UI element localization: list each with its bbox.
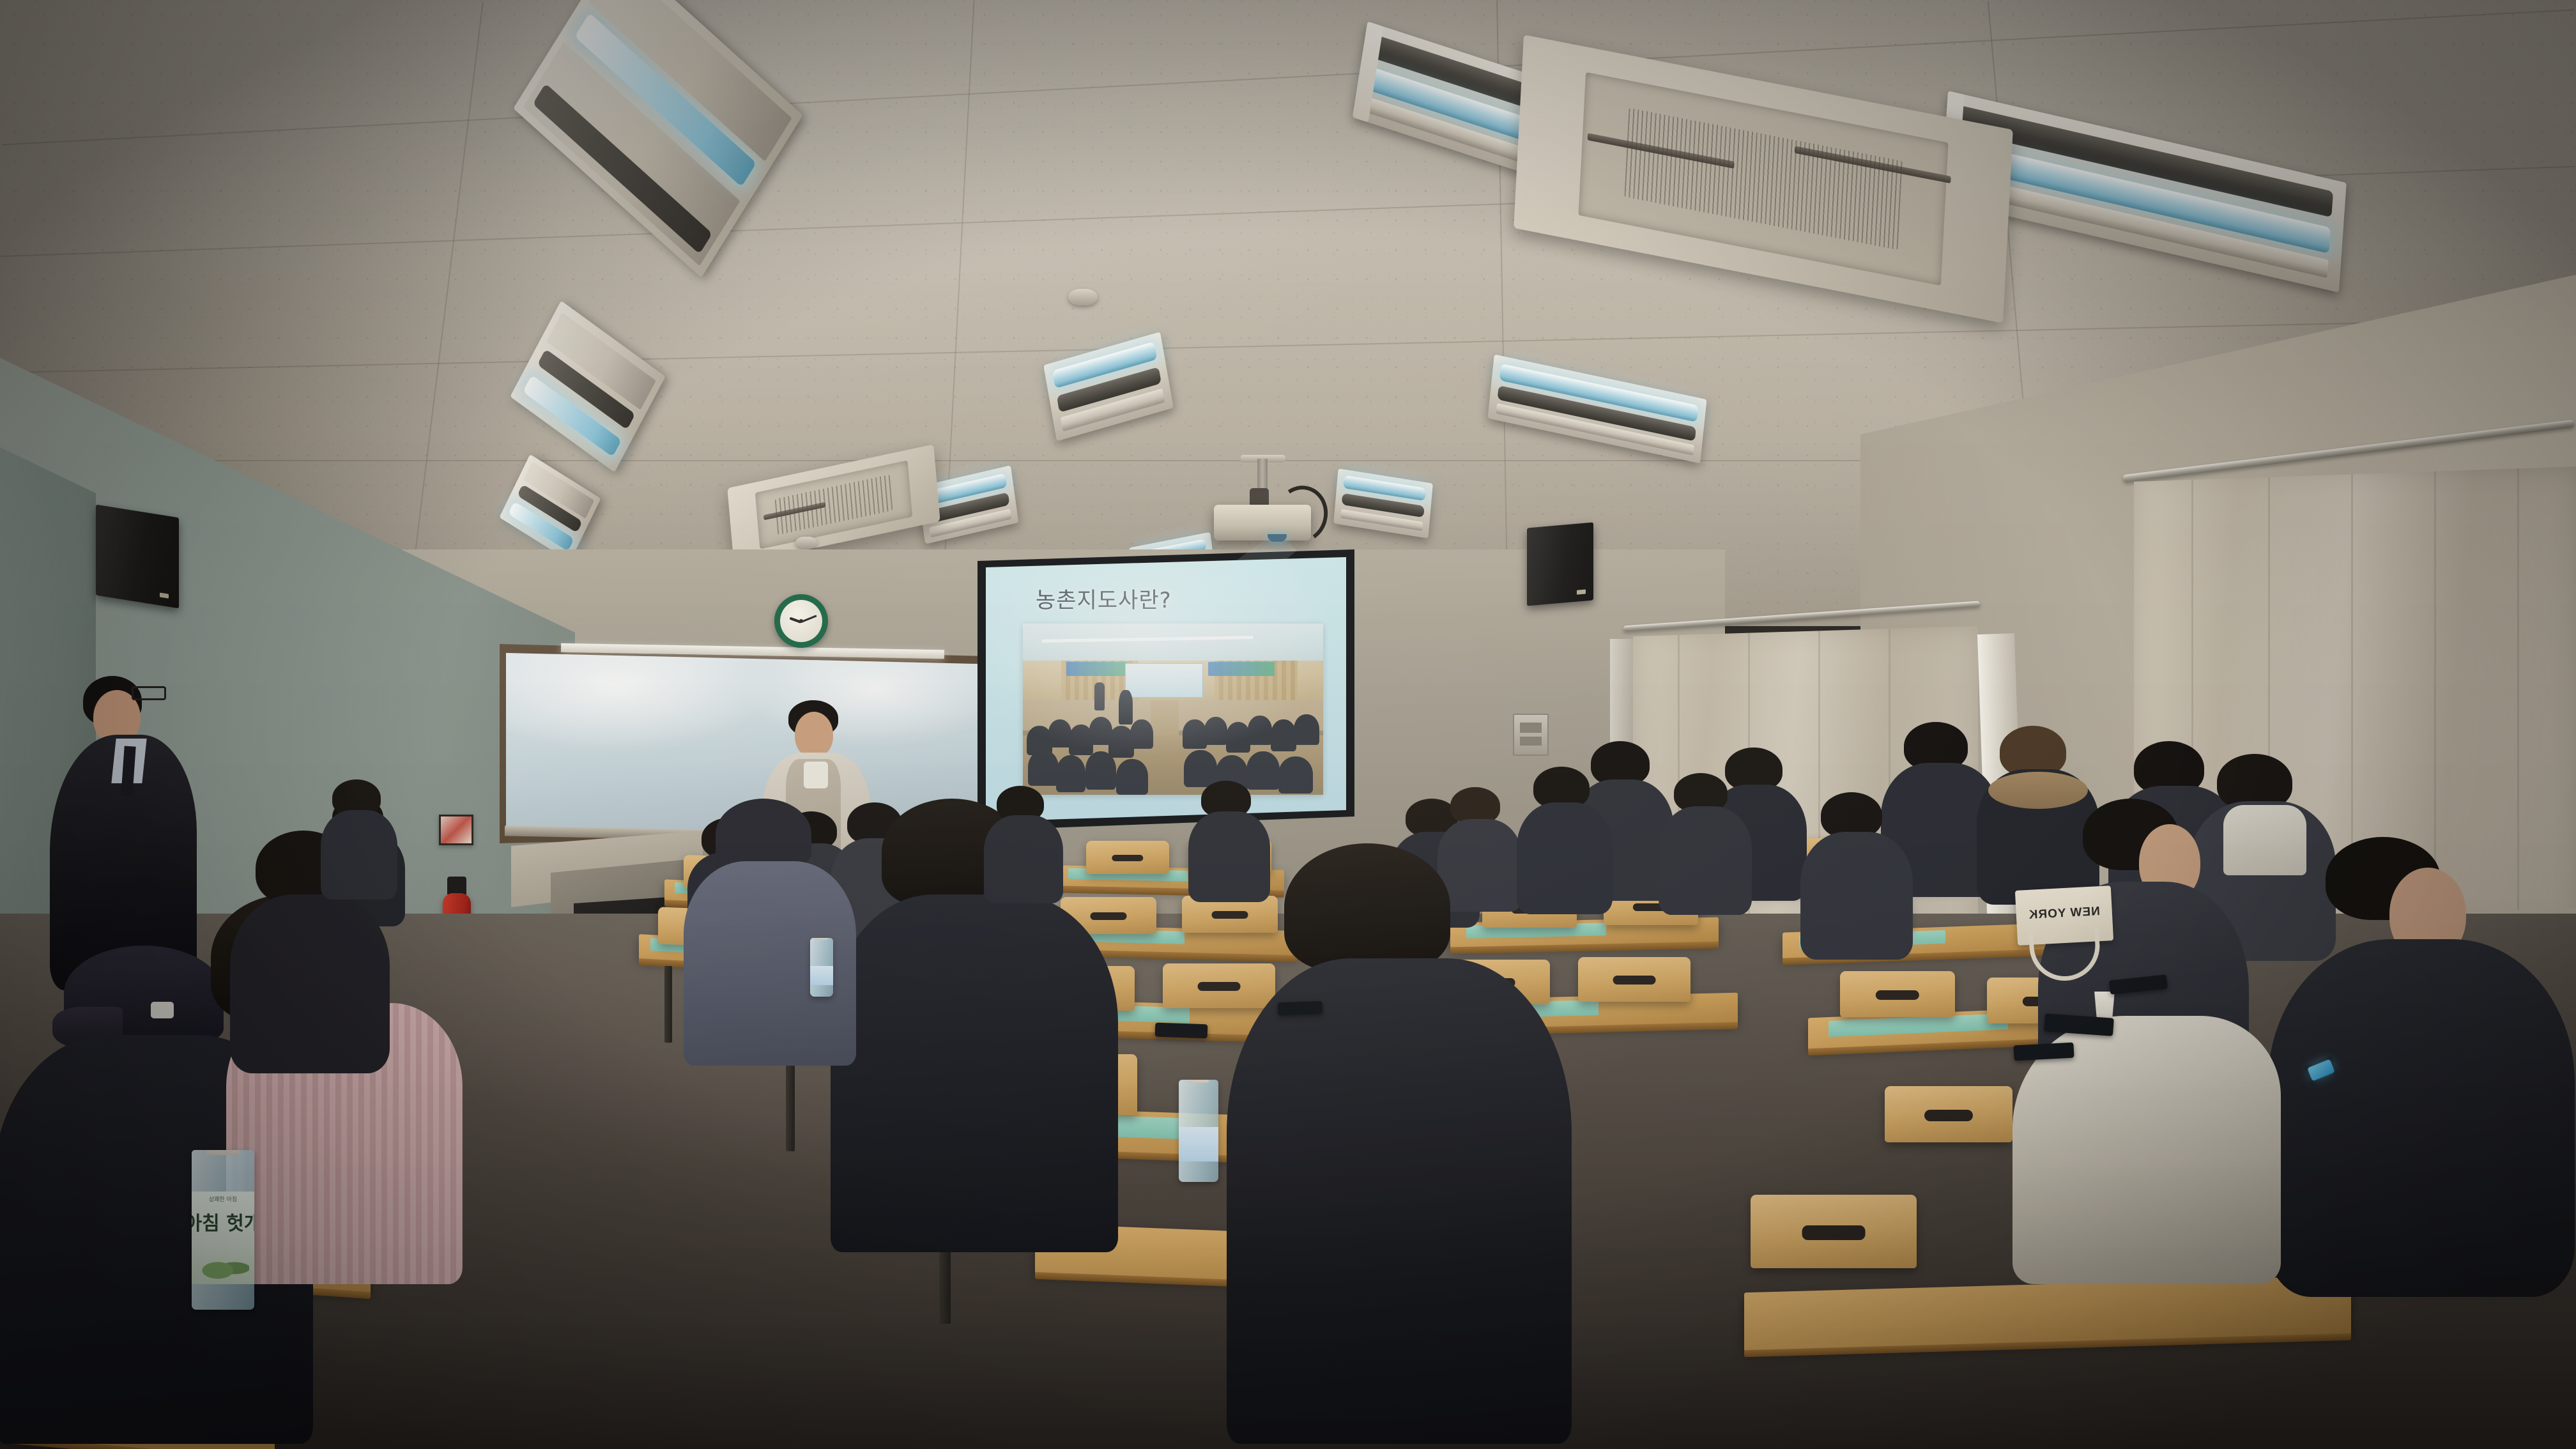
chair[interactable] bbox=[1885, 1086, 2012, 1142]
cap-buckle bbox=[151, 1002, 174, 1018]
chair[interactable] bbox=[1086, 841, 1169, 874]
tote-bag[interactable]: NEW YORK bbox=[2015, 885, 2113, 946]
slide-title: 농촌지도사란? bbox=[1036, 583, 1172, 614]
wall-control-plate[interactable] bbox=[1513, 714, 1549, 756]
wall-speaker-left bbox=[96, 505, 179, 609]
bottle-label: 상쾌한 아침 아침 헛개 bbox=[192, 1192, 254, 1284]
chair[interactable] bbox=[1751, 1195, 1917, 1268]
smoke-detector bbox=[1068, 289, 1098, 305]
wall-speaker-right bbox=[1527, 522, 1593, 606]
eyeglasses bbox=[132, 686, 166, 700]
hood bbox=[2223, 805, 2306, 875]
chair[interactable] bbox=[1840, 971, 1955, 1017]
smartphone[interactable] bbox=[2013, 1043, 2074, 1061]
paper-cup[interactable] bbox=[2093, 992, 2116, 1018]
chair[interactable] bbox=[1578, 957, 1690, 1002]
chair[interactable] bbox=[1163, 963, 1275, 1008]
water-bottle[interactable] bbox=[1179, 1080, 1218, 1182]
water-bottle[interactable] bbox=[810, 938, 833, 997]
fur-collar bbox=[1988, 772, 2088, 809]
bottle-cap bbox=[207, 1150, 240, 1155]
smoke-detector bbox=[795, 537, 817, 548]
smartphone[interactable] bbox=[1155, 1023, 1208, 1039]
fire-extinguisher-nozzle bbox=[447, 877, 466, 894]
projection-screen: 농촌지도사란? bbox=[986, 557, 1346, 822]
bottle-subtext: 상쾌한 아침 bbox=[209, 1197, 237, 1203]
tote-bag-text: NEW YORK bbox=[2028, 905, 2100, 923]
framed-picture bbox=[439, 815, 473, 845]
classroom-scene: 농촌지도사란? bbox=[0, 0, 2576, 1449]
bottle-brand: 아침 헛개 bbox=[192, 1214, 254, 1234]
slide-photo bbox=[1023, 624, 1323, 795]
beverage-bottle[interactable]: 상쾌한 아침 아침 헛개 bbox=[192, 1150, 254, 1310]
smartphone[interactable] bbox=[1278, 1001, 1323, 1015]
wall-clock bbox=[774, 594, 828, 648]
